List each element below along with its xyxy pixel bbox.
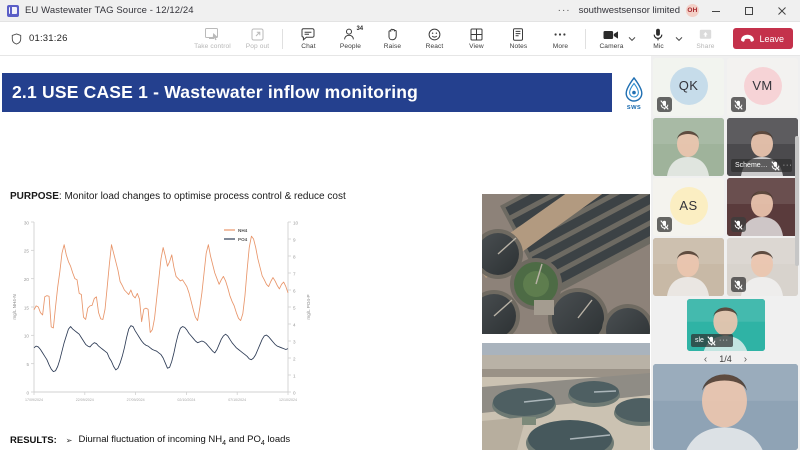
mic-button[interactable]: Mic — [637, 22, 679, 56]
title-bar-right: ··· southwestsensor limited OH — [550, 0, 800, 22]
svg-text:6: 6 — [293, 288, 296, 293]
mic-off-icon — [707, 336, 716, 346]
participant-tile-video-1[interactable] — [653, 118, 724, 176]
slide-title: 2.1 USE CASE 1 - Wastewater inflow monit… — [12, 82, 418, 103]
chat-button[interactable]: Chat — [287, 22, 329, 56]
people-count-badge: 34 — [356, 26, 363, 32]
svg-text:15: 15 — [24, 305, 30, 310]
purpose-label: PURPOSE — [10, 191, 59, 202]
presentation-slide: 2.1 USE CASE 1 - Wastewater inflow monit… — [0, 56, 651, 450]
close-icon[interactable] — [765, 0, 798, 22]
participant-more-icon[interactable]: ··· — [783, 162, 793, 169]
mic-off-icon — [657, 97, 672, 112]
participant-tile-scheme[interactable]: Scheme…··· — [727, 118, 798, 176]
avatar: QK — [670, 67, 708, 105]
chat-icon — [301, 28, 315, 42]
restore-icon[interactable] — [732, 0, 765, 22]
svg-text:1: 1 — [293, 373, 296, 378]
react-button[interactable]: React — [413, 22, 455, 56]
people-icon — [343, 28, 357, 42]
rail-pager: ‹ 1/4 › — [651, 348, 800, 370]
participant-rail[interactable]: QKVMScheme…···ASsle··· — [651, 56, 800, 450]
more-label: More — [553, 43, 568, 50]
svg-text:7: 7 — [293, 271, 296, 276]
mic-off-icon — [731, 97, 746, 112]
shield-icon — [11, 33, 22, 45]
teams-meeting-window: EU Wastewater TAG Source - 12/12/24 ··· … — [0, 0, 800, 450]
pager-next-icon[interactable]: › — [744, 354, 747, 365]
results-bullets: ➢ Diurnal fluctuation of incoming NH4 an… — [66, 434, 332, 450]
svg-text:02/10/2024: 02/10/2024 — [177, 398, 195, 402]
bullet-1-text: Diurnal fluctuation of incoming NH4 and … — [79, 434, 291, 447]
svg-text:07/10/2024: 07/10/2024 — [228, 398, 246, 402]
hangup-icon — [740, 34, 755, 43]
toolbar-divider-2 — [585, 29, 586, 49]
desert-clarifier-plant-photo — [482, 343, 650, 450]
svg-text:20: 20 — [24, 277, 30, 282]
svg-text:12/10/2024: 12/10/2024 — [279, 398, 297, 402]
meeting-toolbar: 01:31:26 Take control — [0, 22, 800, 56]
avatar: VM — [744, 67, 782, 105]
mic-off-icon — [771, 161, 780, 171]
more-button[interactable]: More — [539, 22, 581, 56]
svg-text:3: 3 — [293, 339, 296, 344]
participant-tile-video-3[interactable] — [653, 238, 724, 296]
svg-text:25: 25 — [24, 249, 30, 254]
microphone-icon — [652, 28, 664, 42]
svg-text:8: 8 — [293, 254, 296, 259]
participant-name-chip: sle··· — [691, 334, 733, 347]
svg-text:4: 4 — [293, 322, 296, 327]
svg-text:5: 5 — [26, 362, 29, 367]
pop-out-label: Pop out — [246, 43, 269, 50]
pager-label: 1/4 — [719, 354, 732, 364]
window-title: EU Wastewater TAG Source - 12/12/24 — [25, 5, 194, 16]
svg-text:10: 10 — [293, 220, 299, 225]
svg-text:mg/L PO4-P: mg/L PO4-P — [306, 294, 311, 319]
raise-hand-icon — [386, 28, 399, 42]
pop-out-button[interactable]: Pop out — [236, 22, 278, 56]
participant-tile-as[interactable]: AS — [653, 178, 724, 236]
ellipsis-icon — [553, 28, 567, 42]
notes-button[interactable]: Notes — [497, 22, 539, 56]
participant-name: Scheme… — [735, 162, 768, 169]
mic-off-icon — [731, 277, 746, 292]
share-label: Share — [696, 43, 714, 50]
notes-icon — [512, 28, 524, 42]
window-title-bar: EU Wastewater TAG Source - 12/12/24 ··· … — [0, 0, 800, 22]
view-label: View — [469, 43, 484, 50]
view-button[interactable]: View — [455, 22, 497, 56]
svg-text:PO4: PO4 — [238, 237, 248, 242]
participant-name: sle — [695, 337, 704, 344]
toolbar-actions: Take control Pop out — [188, 22, 800, 56]
rail-scrollbar-thumb[interactable] — [795, 136, 799, 266]
camera-icon — [603, 28, 619, 42]
participant-tile-video-4[interactable] — [727, 238, 798, 296]
aerial-wastewater-plant-photo — [482, 194, 650, 334]
camera-button[interactable]: Camera — [590, 22, 632, 56]
share-button[interactable]: Share — [684, 22, 726, 56]
participant-name-chip: Scheme…··· — [731, 159, 792, 172]
take-control-label: Take control — [194, 43, 231, 50]
bullet-arrow-icon: ➢ — [66, 434, 73, 447]
react-label: React — [426, 43, 444, 50]
leave-label: Leave — [759, 34, 784, 44]
timer-value: 01:31:26 — [29, 33, 68, 44]
camera-label: Camera — [599, 43, 623, 50]
pager-prev-icon[interactable]: ‹ — [704, 354, 707, 365]
mic-label: Mic — [653, 43, 664, 50]
pop-out-icon — [251, 28, 264, 42]
mic-off-icon — [731, 217, 746, 232]
purpose-text: : Monitor load changes to optimise proce… — [59, 191, 346, 202]
share-screen-icon — [699, 28, 712, 42]
participant-tile-qk[interactable]: QK — [653, 58, 724, 116]
purpose-line: PURPOSE: Monitor load changes to optimis… — [10, 191, 346, 202]
raise-label: Raise — [384, 43, 401, 50]
svg-text:22/09/2024: 22/09/2024 — [76, 398, 94, 402]
svg-text:NH4: NH4 — [238, 228, 248, 233]
svg-text:10: 10 — [24, 334, 30, 339]
slide-title-bar: 2.1 USE CASE 1 - Wastewater inflow monit… — [2, 73, 612, 112]
svg-text:27/09/2024: 27/09/2024 — [127, 398, 145, 402]
minimize-icon[interactable] — [699, 0, 732, 22]
svg-text:2: 2 — [293, 356, 296, 361]
water-drop-icon — [624, 77, 644, 103]
svg-text:5: 5 — [293, 305, 296, 310]
teams-icon — [7, 5, 19, 17]
bullet-item-1: ➢ Diurnal fluctuation of incoming NH4 an… — [66, 434, 332, 447]
svg-text:9: 9 — [293, 237, 296, 242]
raise-hand-button[interactable]: Raise — [371, 22, 413, 56]
sws-logo: sws — [618, 74, 650, 114]
timeseries-chart: 051015202530012345678910mg/L NH4-Nmg/L P… — [6, 214, 326, 429]
title-bar-left: EU Wastewater TAG Source - 12/12/24 — [0, 5, 194, 17]
shared-content-stage[interactable]: 2.1 USE CASE 1 - Wastewater inflow monit… — [0, 56, 651, 450]
meeting-timer: 01:31:26 — [0, 33, 68, 45]
participant-more-icon[interactable]: ··· — [719, 337, 729, 344]
svg-text:0: 0 — [293, 390, 296, 395]
video-feed — [653, 238, 724, 296]
chat-label: Chat — [301, 43, 315, 50]
take-control-button[interactable]: Take control — [188, 22, 236, 56]
video-feed — [653, 364, 798, 450]
people-label: People — [340, 43, 361, 50]
participant-tile-video-2[interactable] — [727, 178, 798, 236]
participant-tile-spotlight[interactable]: sle··· — [687, 299, 765, 351]
svg-text:17/09/2024: 17/09/2024 — [25, 398, 43, 402]
toolbar-divider-1 — [282, 29, 283, 49]
title-overflow-icon[interactable]: ··· — [550, 6, 579, 16]
sws-logo-text: sws — [627, 104, 641, 111]
video-feed — [653, 118, 724, 176]
avatar[interactable]: OH — [686, 4, 699, 17]
notes-label: Notes — [510, 43, 528, 50]
results-block: RESULTS: ➢ Diurnal fluctuation of incomi… — [10, 434, 331, 450]
participant-tile-room[interactable] — [653, 364, 798, 450]
svg-text:30: 30 — [24, 220, 30, 225]
svg-text:0: 0 — [26, 390, 29, 395]
people-button[interactable]: 34 People — [329, 22, 371, 56]
grid-view-icon — [470, 28, 483, 42]
results-label: RESULTS: — [10, 434, 57, 450]
avatar: AS — [670, 187, 708, 225]
mic-off-icon — [657, 217, 672, 232]
rail-scrollbar[interactable] — [795, 56, 799, 450]
leave-button[interactable]: Leave — [733, 28, 793, 49]
participant-tile-vm[interactable]: VM — [727, 58, 798, 116]
emoji-icon — [428, 28, 441, 42]
screen-cursor-icon — [205, 28, 220, 42]
organization-label: southwestsensor limited — [579, 5, 686, 16]
svg-text:mg/L NH4-N: mg/L NH4-N — [12, 294, 17, 319]
